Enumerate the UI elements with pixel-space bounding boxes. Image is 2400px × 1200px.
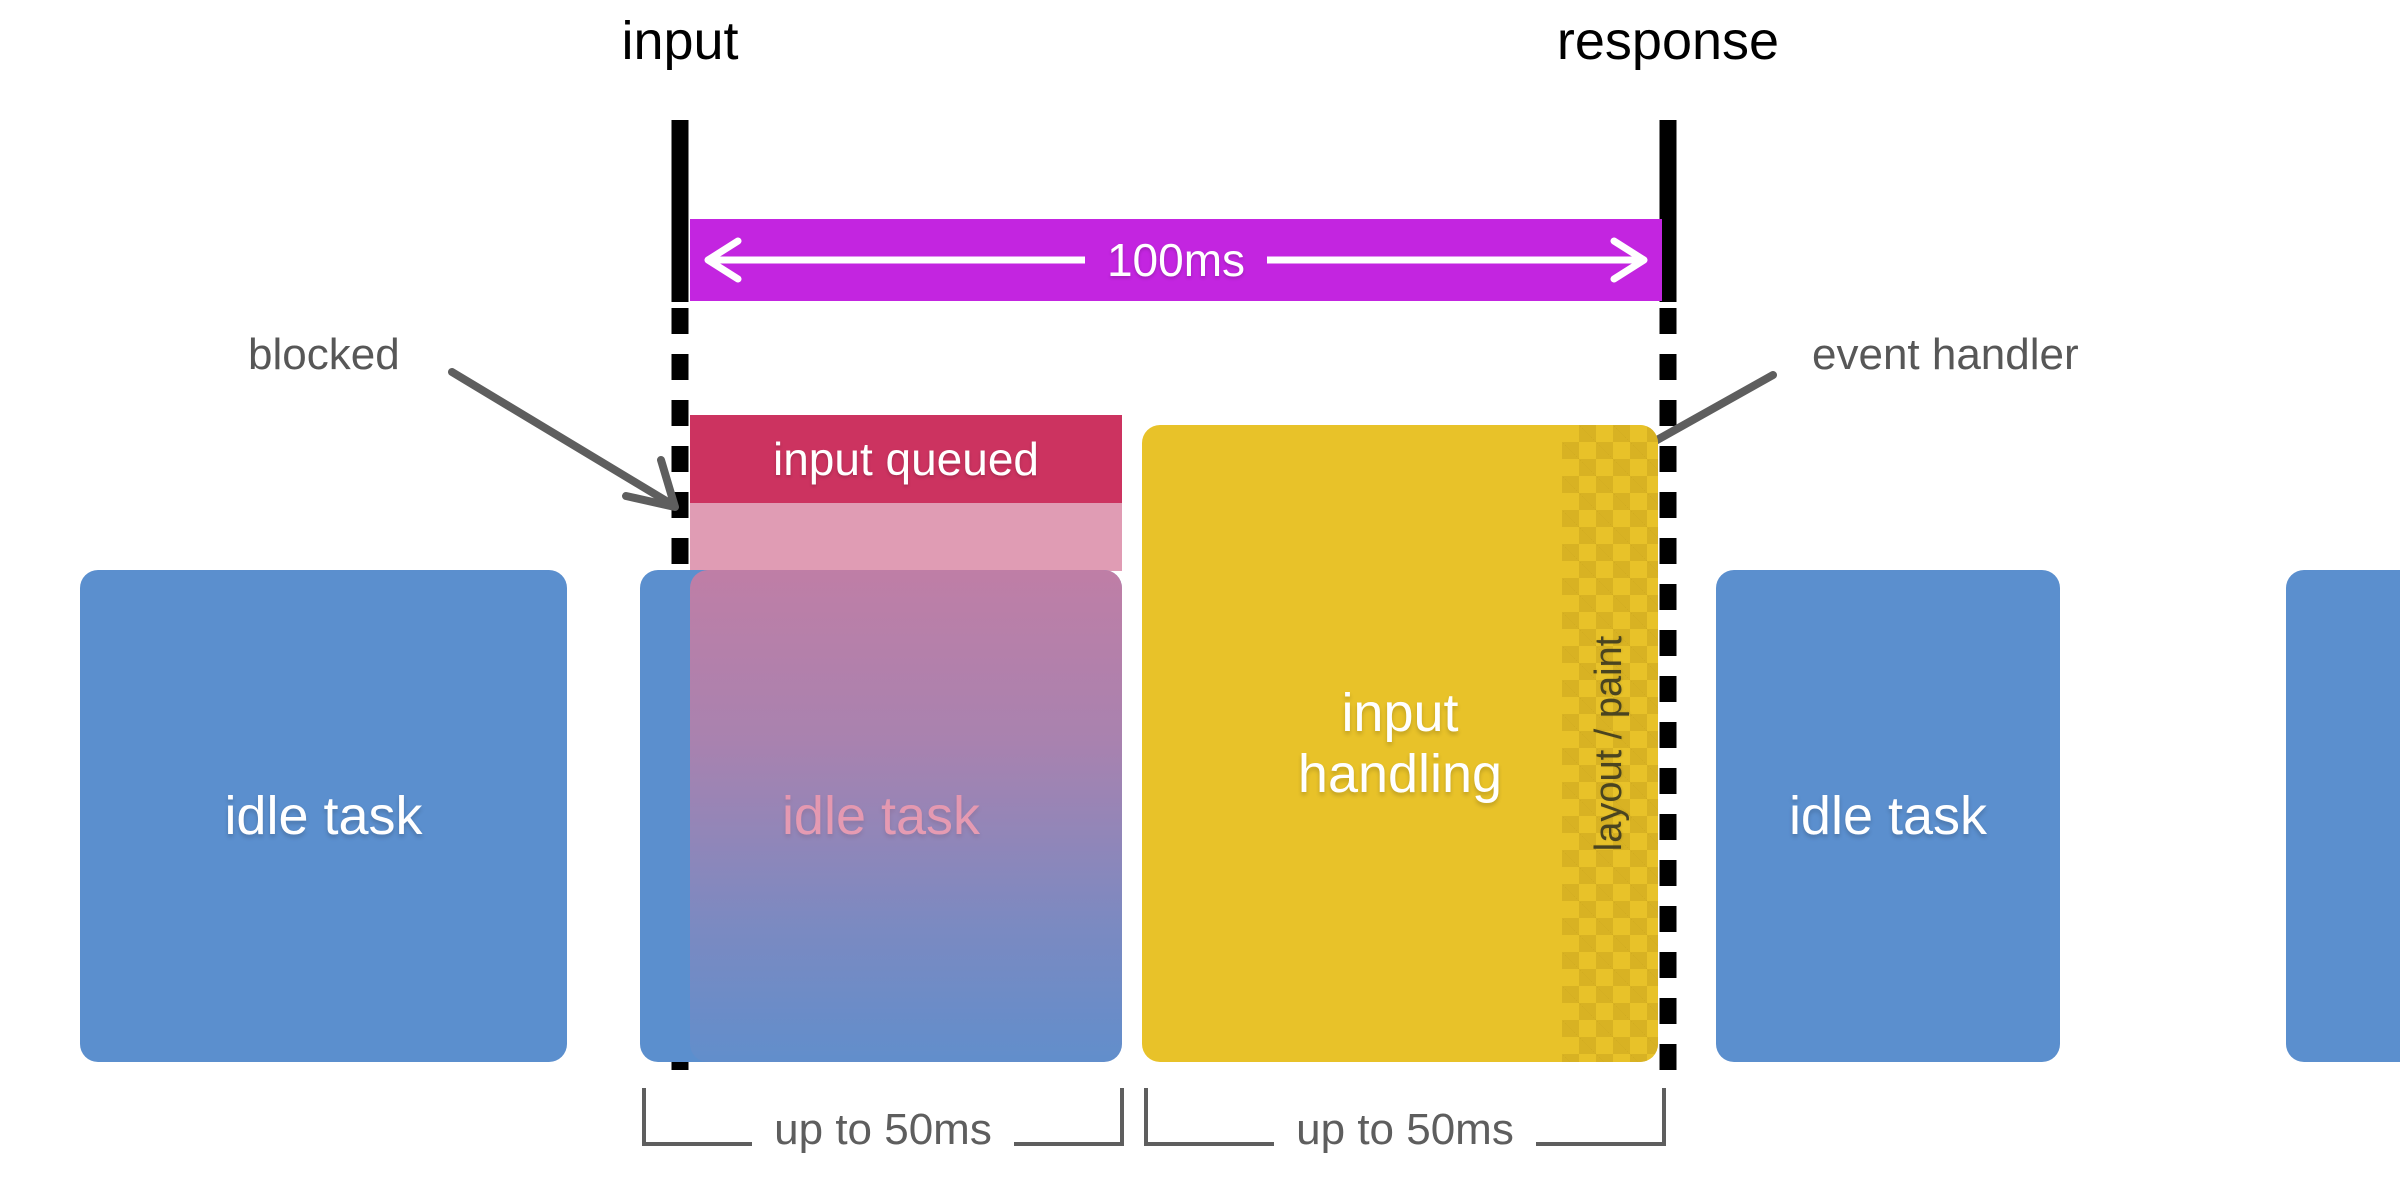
bracket-handling-tick-left: [1144, 1088, 1148, 1146]
idle-task-label-3: idle task: [1789, 785, 1987, 847]
blocked-callout-label: blocked: [248, 330, 400, 380]
bracket-queue-tick-right: [1120, 1088, 1124, 1146]
idle-task-block-1: idle task: [80, 570, 567, 1062]
input-queued-block: input queued: [690, 415, 1122, 503]
latency-band: 100ms: [690, 219, 1662, 301]
bracket-handling-label: up to 50ms: [1274, 1105, 1536, 1155]
idle-task-block-3: idle task: [1716, 570, 2060, 1062]
input-handling-label-line2: handling: [1298, 744, 1502, 804]
input-marker-line: [672, 120, 689, 302]
idle-task-label-2: idle task: [782, 785, 980, 847]
layout-paint-label: layout / paint: [1589, 636, 1632, 851]
latency-value-label: 100ms: [1085, 233, 1267, 287]
response-marker-label: response: [1557, 10, 1779, 72]
input-queued-fade: [690, 503, 1122, 571]
bracket-queue-label: up to 50ms: [752, 1105, 1014, 1155]
idle-task-block-2: idle task: [640, 570, 1122, 1062]
bracket-queue: up to 50ms: [642, 1088, 1124, 1146]
blocked-callout-arrow-icon: [430, 350, 710, 530]
input-handling-label-line1: input: [1341, 683, 1458, 743]
bracket-queue-tick-left: [642, 1088, 646, 1146]
input-handling-label: input handling: [1298, 683, 1502, 804]
bracket-handling: up to 50ms: [1144, 1088, 1666, 1146]
response-marker-line: [1660, 120, 1677, 302]
event-handler-callout-label: event handler: [1812, 330, 2079, 380]
idle-task-block-4: [2286, 570, 2400, 1062]
idle-task-label-1: idle task: [224, 785, 422, 847]
diagram-canvas: input response 100ms blocked event handl…: [0, 0, 2400, 1200]
layout-paint-strip: layout / paint: [1562, 425, 1658, 1062]
input-queued-label: input queued: [773, 432, 1039, 486]
input-marker-label: input: [621, 10, 738, 72]
bracket-handling-tick-right: [1662, 1088, 1666, 1146]
